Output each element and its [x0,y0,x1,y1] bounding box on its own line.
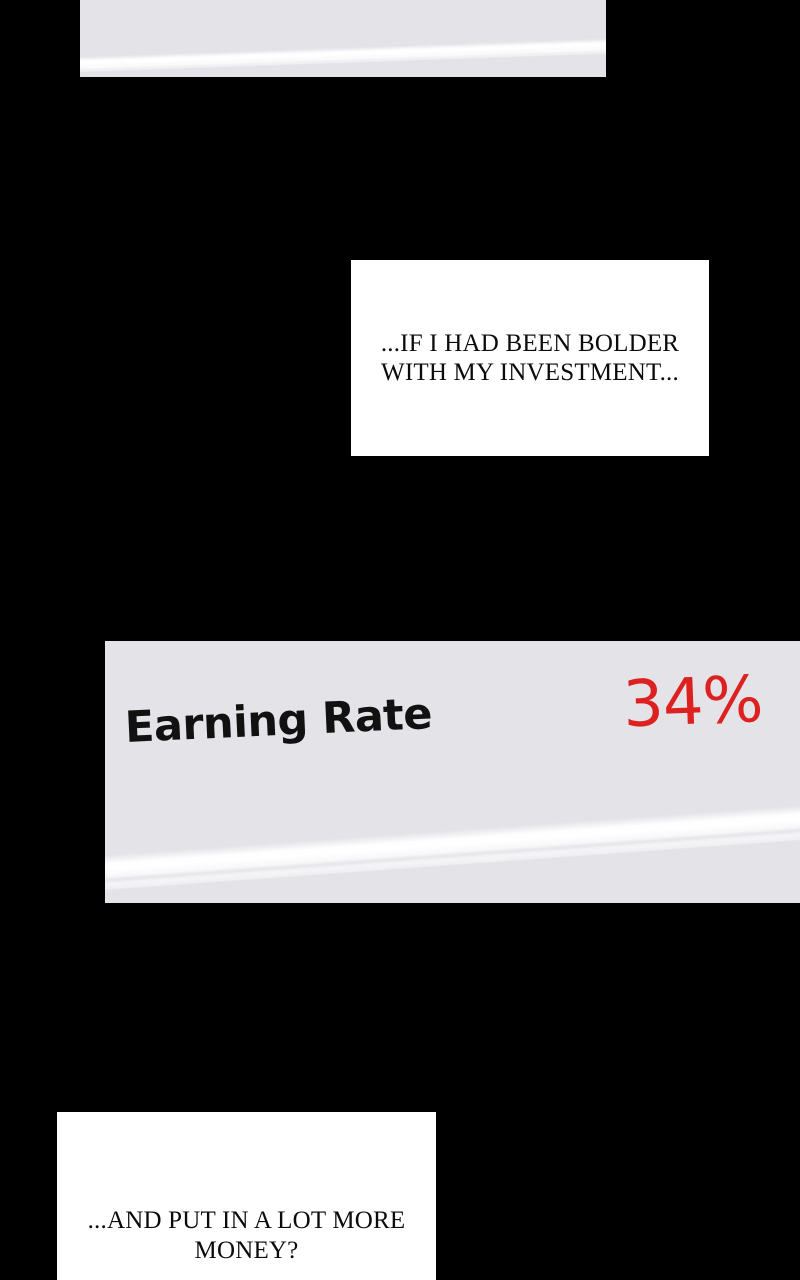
panel-light-sweep-icon [80,34,606,71]
top-stat-panel [80,0,606,77]
caption-upper-text: ...IF I HAD BEEN BOLDER WITH MY INVESTME… [351,329,709,388]
earning-panel-light-sweep-secondary-icon [105,820,800,895]
panel-light-sweep-secondary-icon [80,43,606,74]
caption-box-lower: ...AND PUT IN A LOT MORE MONEY? [57,1112,436,1280]
earning-rate-value: 34% [621,663,763,742]
earning-panel-light-sweep-icon [105,795,800,885]
caption-box-upper: ...IF I HAD BEEN BOLDER WITH MY INVESTME… [351,260,709,456]
earning-rate-panel: Earning Rate 34% [105,641,800,903]
caption-lower-text: ...AND PUT IN A LOT MORE MONEY? [57,1154,436,1265]
earning-rate-label: Earning Rate [124,689,433,753]
comic-panel-stage: ...IF I HAD BEEN BOLDER WITH MY INVESTME… [0,0,800,1280]
